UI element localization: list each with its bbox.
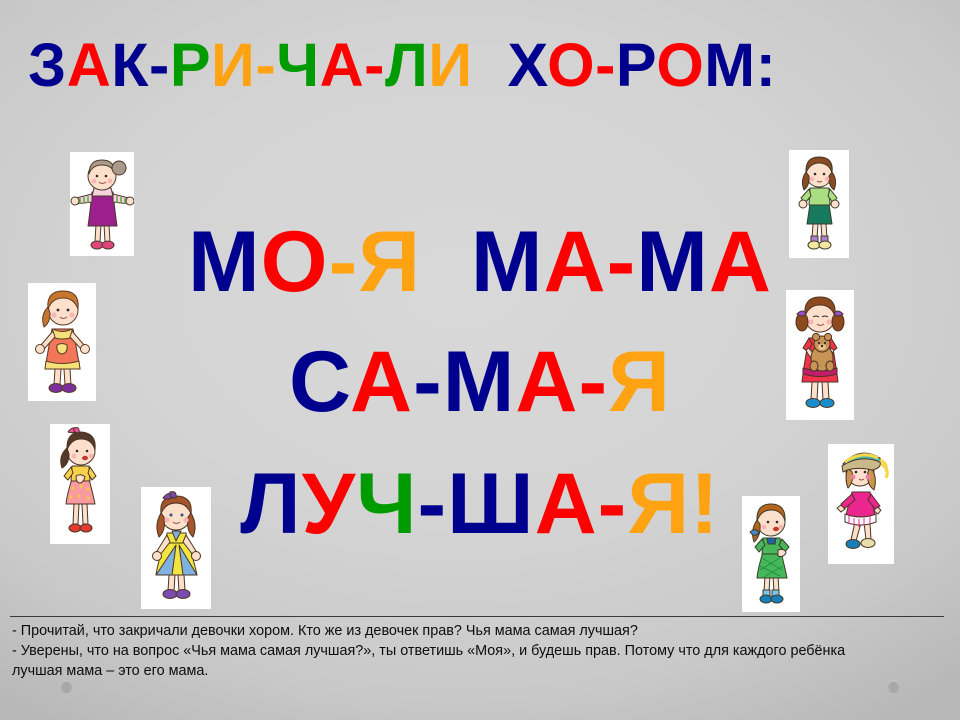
title-glyph-10: Л: [385, 31, 428, 99]
chant3-glyph-6: -: [598, 456, 628, 552]
title-glyph-12: [473, 31, 508, 99]
chant3-glyph-1: У: [302, 456, 357, 552]
girl-orange-dress-illustration: [28, 283, 96, 401]
chant1-glyph-8: М: [636, 214, 709, 310]
title-glyph-2: К: [111, 31, 149, 99]
chant2-glyph-5: -: [579, 334, 609, 430]
chant3-glyph-0: Л: [240, 456, 301, 552]
decorative-dot-right: [888, 680, 899, 693]
title-glyph-18: М: [704, 31, 755, 99]
title-glyph-14: О: [547, 31, 595, 99]
chant2-glyph-1: А: [350, 334, 413, 430]
caption-block: - Прочитай, что закричали девочки хором.…: [12, 621, 948, 681]
title-glyph-5: И: [211, 31, 255, 99]
chant2-glyph-3: М: [443, 334, 516, 430]
title-glyph-15: -: [595, 31, 616, 99]
chant1-glyph-3: Я: [358, 214, 421, 310]
caption-line-1: - Прочитай, что закричали девочки хором.…: [12, 621, 948, 641]
title-glyph-7: Ч: [276, 31, 319, 99]
title-glyph-19: :: [756, 31, 777, 99]
girl-hat-illustration: [828, 444, 894, 564]
title-glyph-3: -: [149, 31, 170, 99]
chant2-glyph-6: Я: [608, 334, 671, 430]
chant1-glyph-4: [421, 214, 471, 310]
title-glyph-0: З: [28, 31, 67, 99]
caption-divider: [10, 616, 944, 617]
chant3-glyph-8: !: [690, 456, 720, 552]
title-glyph-16: Р: [616, 31, 656, 99]
chant3-glyph-4: Ш: [447, 456, 534, 552]
chant1-glyph-2: -: [329, 214, 359, 310]
title-glyph-13: Х: [508, 31, 548, 99]
title-glyph-4: Р: [170, 31, 211, 99]
chant1-glyph-0: М: [188, 214, 261, 310]
title-glyph-8: А: [320, 31, 365, 99]
slide-canvas: ЗАК-РИ-ЧА-ЛИ ХО-РОМ: МО-Я МА-МА СА-МА-Я …: [0, 0, 960, 720]
chant2-glyph-4: А: [515, 334, 578, 430]
decorative-dot-left: [61, 680, 72, 693]
girl-green-skirt-illustration: [789, 150, 849, 258]
chant1-glyph-5: М: [471, 214, 544, 310]
title-glyph-17: О: [656, 31, 704, 99]
title-glyph-11: И: [428, 31, 472, 99]
chant3-glyph-3: -: [418, 456, 448, 552]
chant1-glyph-7: -: [607, 214, 637, 310]
girl-teddy-illustration: [786, 290, 854, 420]
girl-yellow-dress-illustration: [141, 487, 211, 609]
girl-green-dress-illustration: [742, 496, 800, 612]
chant3-glyph-7: Я: [627, 456, 690, 552]
title-glyph-6: -: [255, 31, 276, 99]
girl-purple-dress-illustration: [70, 152, 134, 256]
caption-line-2: - Уверены, что на вопрос «Чья мама самая…: [12, 641, 948, 661]
chant2-glyph-0: С: [289, 334, 350, 430]
chant3-glyph-5: А: [535, 456, 598, 552]
title-glyph-9: -: [364, 31, 385, 99]
chant3-glyph-2: Ч: [356, 456, 417, 552]
title-glyph-1: А: [67, 31, 112, 99]
chant1-glyph-9: А: [709, 214, 772, 310]
caption-line-3: лучшая мама – это его мама.: [12, 661, 948, 681]
page-title: ЗАК-РИ-ЧА-ЛИ ХО-РОМ:: [28, 33, 932, 97]
chant2-glyph-2: -: [413, 334, 443, 430]
chant1-glyph-6: А: [543, 214, 606, 310]
girl-yellow-top-illustration: [50, 424, 110, 544]
chant1-glyph-1: О: [261, 214, 329, 310]
